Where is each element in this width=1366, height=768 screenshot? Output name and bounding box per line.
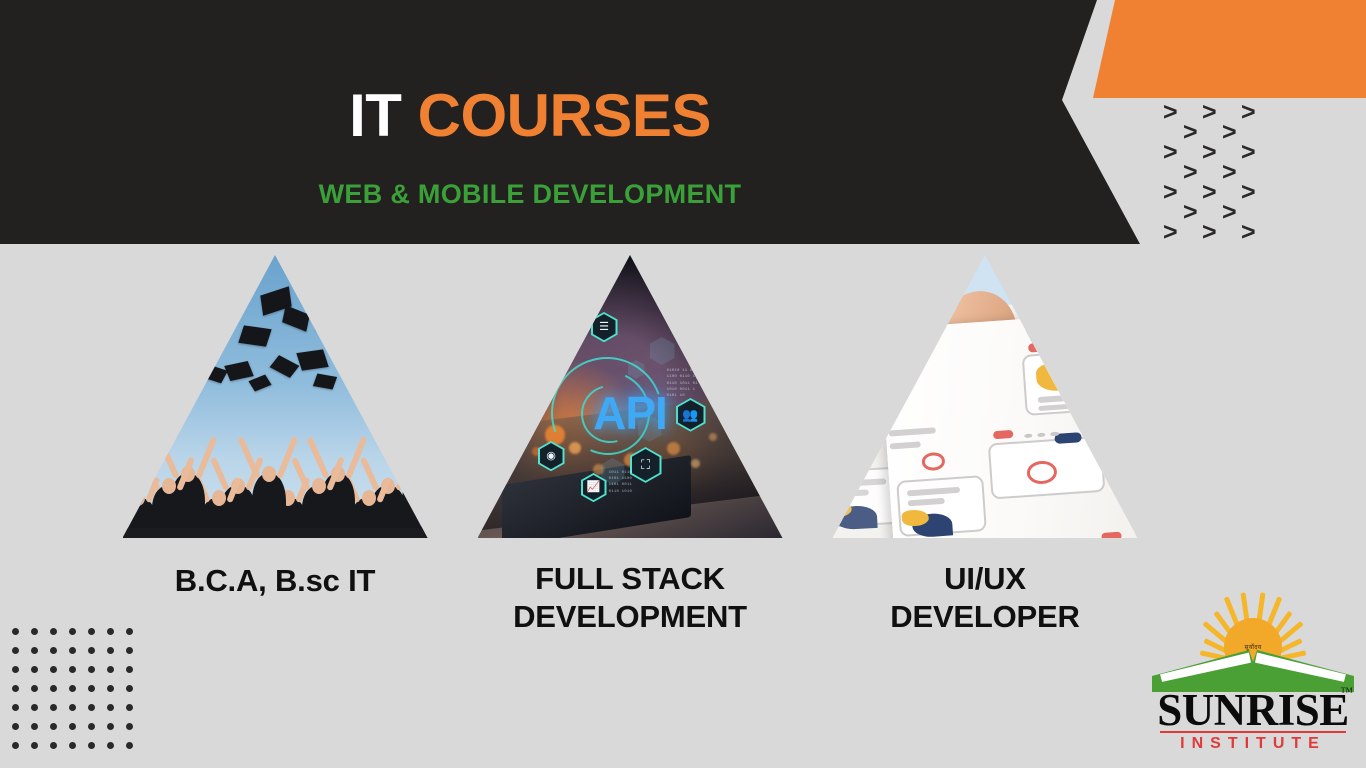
title-part-it: IT: [349, 82, 401, 149]
dot-icon: [88, 723, 95, 730]
header-orange-accent: [1085, 0, 1366, 98]
chevron-icon: >: [1202, 180, 1217, 205]
wireframe-sheet-front: [879, 306, 1138, 538]
graduate-head: [262, 466, 276, 482]
dot-icon: [12, 685, 19, 692]
bokeh-light: [667, 442, 680, 455]
dot-icon: [88, 685, 95, 692]
dot-icon: [31, 723, 38, 730]
course-label-ui-ux-line2: DEVELOPER: [825, 598, 1145, 636]
wireframe-dot: [1097, 369, 1109, 376]
graduate-head: [212, 490, 226, 506]
hud-code-text-2: 1011 01100101 11001101 00110110 1010: [609, 470, 632, 495]
dot-icon: [126, 685, 133, 692]
chevron-icon: >: [1241, 100, 1256, 125]
bokeh-light: [691, 459, 700, 468]
wireframe-navy-shape: [1080, 407, 1137, 436]
dot-icon: [126, 704, 133, 711]
course-card-ui-ux[interactable]: UI/UX DEVELOPER: [825, 255, 1145, 636]
graduation-cap-icon: [297, 279, 328, 304]
api-caption: API: [593, 386, 667, 440]
dot-icon: [50, 704, 57, 711]
graduate-arm: [395, 456, 414, 491]
wireframe-text-line: [833, 417, 862, 426]
triangle-image-uiux: [833, 255, 1138, 538]
dot-icon: [12, 723, 19, 730]
wireframe-play-circle: [921, 452, 946, 471]
chevron-icon: >: [1163, 100, 1178, 125]
sunrise-sun-icon: सूर्योदय: [1150, 592, 1356, 688]
graduation-cap-icon: [296, 349, 328, 370]
wireframe-dot: [1038, 432, 1047, 437]
chevron-icon: >: [1222, 120, 1237, 145]
chevron-icon: >: [1163, 180, 1178, 205]
poster-canvas: IT COURSES WEB & MOBILE DEVELOPMENT >>>>…: [0, 0, 1366, 768]
dot-icon: [107, 742, 114, 749]
graduate-head: [362, 490, 376, 506]
chevron-icon: >: [1202, 140, 1217, 165]
chevron-icon: >: [1202, 220, 1217, 245]
wireframe-text-line: [1135, 527, 1137, 538]
wireframe-accent-pill: [1102, 532, 1123, 538]
graduates-crowd: [123, 426, 428, 538]
dot-icon: [126, 723, 133, 730]
chevron-icon: >: [1183, 160, 1198, 185]
dot-icon: [50, 685, 57, 692]
page-title: IT COURSES: [0, 86, 1060, 146]
course-label-ui-ux-line1: UI/UX: [825, 560, 1145, 598]
course-label-full-stack-line1: FULL STACK: [470, 560, 790, 598]
wireframe-dot: [1024, 433, 1033, 438]
chevron-icon: >: [1222, 160, 1237, 185]
graduate-arm: [123, 477, 130, 503]
chevron-icon: >: [1183, 200, 1198, 225]
course-label-bca: B.C.A, B.sc IT: [115, 562, 435, 600]
graduation-cap-icon: [238, 325, 271, 346]
wireframe-dot: [1060, 367, 1070, 373]
course-label-ui-ux: UI/UX DEVELOPER: [825, 560, 1145, 636]
graduate-arm: [413, 477, 427, 503]
wireframe-avatar-blob: [1036, 361, 1085, 392]
graduate-head: [412, 466, 426, 482]
wireframe-dot: [1118, 381, 1130, 388]
dot-icon: [31, 685, 38, 692]
logo-wordmark: SUNRISE: [1150, 688, 1356, 733]
wireframe-navy-shape: [1088, 335, 1129, 356]
chevron-icon: >: [1222, 200, 1237, 225]
wireframe-card: [1122, 427, 1138, 495]
hud-code-text-1: 01010 11 0101100 0110 100110 1011 011010…: [667, 368, 698, 399]
dot-icon: [50, 723, 57, 730]
dot-icon: [12, 742, 19, 749]
sunrise-institute-logo[interactable]: सूर्योदय SUNRISE ™ INSTITUTE: [1150, 592, 1356, 758]
dot-icon: [50, 742, 57, 749]
graduate-figure: [402, 452, 428, 538]
chevron-icon: >: [1202, 100, 1217, 125]
dot-icon: [88, 742, 95, 749]
graduation-cap-icon: [315, 314, 347, 336]
graduate-figure: [152, 464, 186, 538]
graduate-head: [162, 478, 176, 494]
dot-icon: [107, 723, 114, 730]
dot-icon: [126, 742, 133, 749]
dot-icon: [31, 704, 38, 711]
wireframe-dot: [1056, 359, 1069, 366]
wireframe-text-line: [833, 431, 844, 439]
dot-icon: [107, 685, 114, 692]
graduate-figure: [302, 464, 336, 538]
course-card-full-stack[interactable]: ☰👥◉⛶📈 API 01010 11 0101100 0110 100110 1…: [470, 255, 790, 636]
triangle-image-graduation: [123, 255, 428, 538]
wireframe-dot: [1098, 382, 1110, 389]
chevron-icon: >: [1241, 220, 1256, 245]
trademark-symbol: ™: [1340, 684, 1353, 700]
graduate-head: [312, 478, 326, 494]
wireframe-accent-pill: [1028, 343, 1045, 353]
wireframe-text-line: [889, 427, 936, 437]
logo-divider-rule: [1160, 731, 1346, 733]
dot-icon: [69, 704, 76, 711]
ground-strip: [123, 528, 428, 538]
course-card-bca-bsc-it[interactable]: B.C.A, B.sc IT: [115, 255, 435, 600]
chevron-icon: >: [1183, 120, 1198, 145]
wireframe-dot: [1057, 372, 1070, 379]
dot-icon: [12, 704, 19, 711]
course-label-full-stack-line2: DEVELOPMENT: [470, 598, 790, 636]
chevron-icon: >: [1163, 220, 1178, 245]
dot-icon: [31, 742, 38, 749]
chevron-icon: >: [1241, 140, 1256, 165]
wireframe-dot: [1117, 368, 1129, 375]
page-subtitle: WEB & MOBILE DEVELOPMENT: [0, 179, 1060, 210]
wireframe-accent-pill: [994, 430, 1015, 440]
triangle-image-api: ☰👥◉⛶📈 API 01010 11 0101100 0110 100110 1…: [478, 255, 783, 538]
chevron-icon: >: [1241, 180, 1256, 205]
wireframe-play-circle: [844, 442, 870, 462]
chevron-pattern: >>>>>>>>>>>>>>>>>>: [1163, 100, 1293, 250]
dot-icon: [69, 685, 76, 692]
dot-icon: [88, 704, 95, 711]
graduate-arm: [426, 436, 428, 479]
chevron-icon: >: [1163, 140, 1178, 165]
wireframe-navy-shape: [1026, 325, 1070, 345]
dot-icon: [69, 723, 76, 730]
graduate-head: [131, 490, 145, 506]
wireframe-text-line: [890, 441, 921, 450]
course-label-full-stack: FULL STACK DEVELOPMENT: [470, 560, 790, 636]
dot-icon: [107, 704, 114, 711]
title-part-courses: COURSES: [418, 82, 711, 149]
logo-subtitle: INSTITUTE: [1150, 735, 1356, 753]
wireframe-navy-shape: [833, 505, 877, 531]
dot-icon: [69, 742, 76, 749]
